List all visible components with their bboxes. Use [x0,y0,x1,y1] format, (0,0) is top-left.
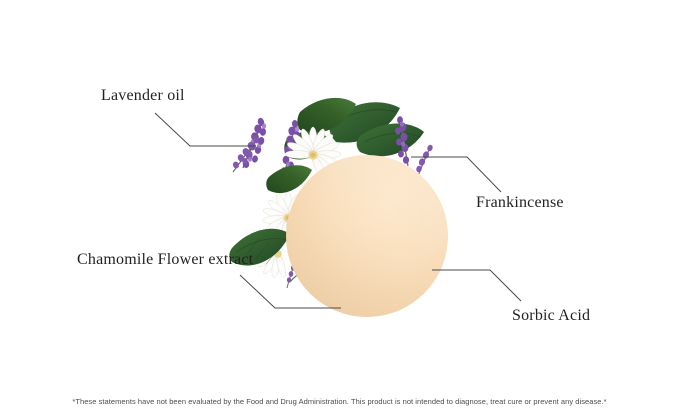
lavender-sprig-left-outer [232,135,260,172]
product-blob [286,155,448,317]
lavender-sprig-far-right [415,144,433,176]
callout-label-chamomile-flower-extract: Chamomile Flower extract [77,251,253,269]
callout-label-frankincense: Frankincense [476,194,564,212]
lavender-sprig-center [281,120,300,180]
lavender-sprig-right [395,116,409,166]
daisy-flower-left-partial [254,230,288,278]
lavender-sprig-left [242,117,266,168]
leaf-cluster-back [284,98,424,160]
ingredient-infographic: Lavender oil Frankincense Chamomile Flow… [0,0,679,420]
callout-label-sorbic-acid: Sorbic Acid [512,307,590,325]
leader-line-lavender-oil [155,113,256,146]
callout-label-lavender-oil: Lavender oil [101,87,185,105]
fda-disclaimer: *These statements have not been evaluate… [0,397,679,406]
leader-line-sorbic-acid [432,270,521,301]
